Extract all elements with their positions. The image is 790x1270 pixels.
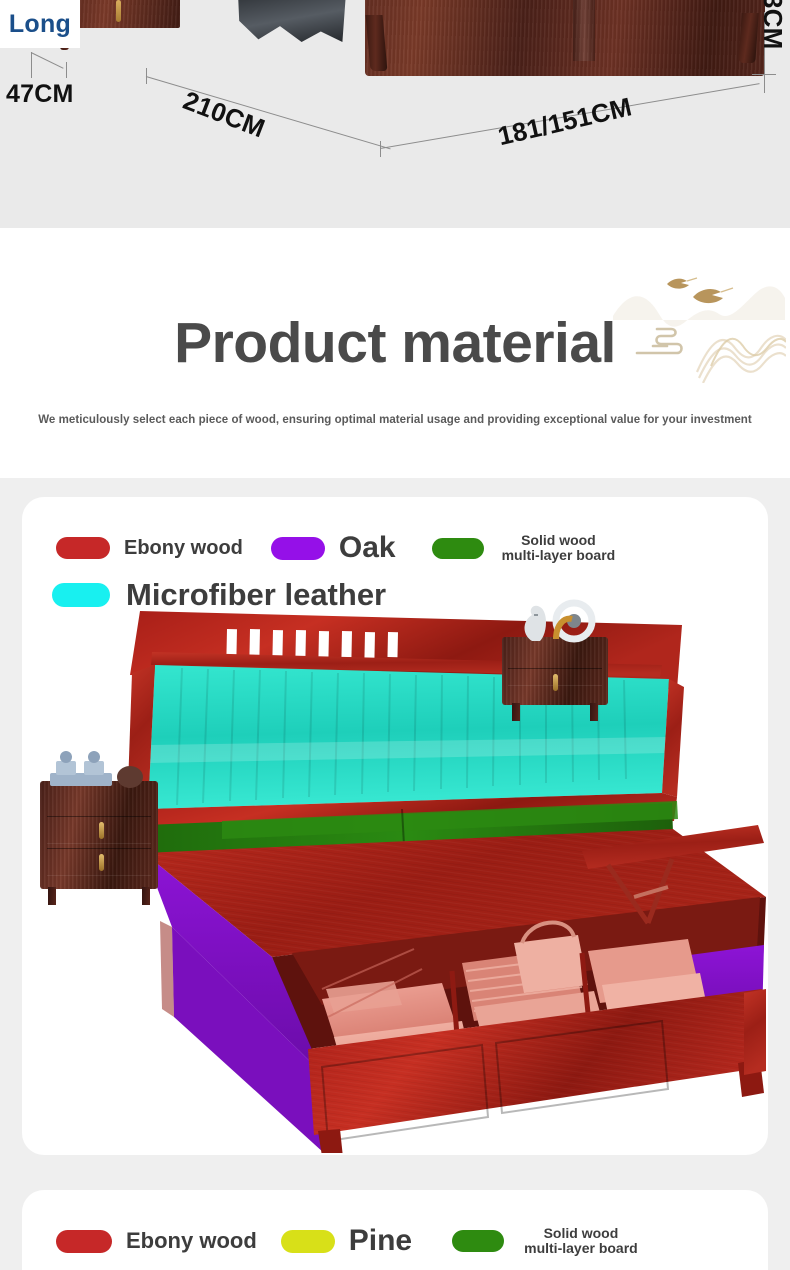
nightstand-knob-icon <box>116 0 121 22</box>
bed-footboard <box>365 0 765 76</box>
bed-illustration <box>22 597 768 1153</box>
nightstand-left-decor-icon <box>46 747 156 789</box>
legend-label-oak: Oak <box>339 531 396 565</box>
dimension-label-height: 3CM <box>757 0 788 50</box>
nightstand-right-pull <box>553 674 558 691</box>
legend-bottom-row-1: Ebony wood Pine Solid wood multi-layer b… <box>56 1224 638 1258</box>
long-badge: Long <box>0 0 80 48</box>
legend-item-ebony-wood-2[interactable]: Ebony wood <box>56 1228 257 1254</box>
nightstand-left-leg-a <box>48 887 56 905</box>
material-card-secondary: Ebony wood Pine Solid wood multi-layer b… <box>22 1190 768 1270</box>
legend-item-ebony-wood[interactable]: Ebony wood <box>56 537 243 560</box>
material-card-primary: Ebony wood Oak Solid wood multi-layer bo… <box>22 497 768 1155</box>
dim-tick-depth-end <box>66 62 67 78</box>
nightstand-left-leg-b <box>142 887 150 905</box>
swatch-multilayer-board <box>432 538 484 559</box>
nightstand-left <box>40 781 158 889</box>
draped-blanket <box>232 0 352 42</box>
legend-item-oak[interactable]: Oak <box>271 531 396 565</box>
bed-leg-right <box>738 13 758 63</box>
legend-label-multilayer-line1: Solid wood <box>521 532 596 548</box>
legend-row-1: Ebony wood Oak Solid wood multi-layer bo… <box>56 531 615 565</box>
legend-item-multilayer-board[interactable]: Solid wood multi-layer board <box>432 533 616 563</box>
legend-label-multilayer-2-line1: Solid wood <box>544 1225 619 1241</box>
legend-label-multilayer-line2: multi-layer board <box>502 547 616 563</box>
legend-label-multilayer-board: Solid wood multi-layer board <box>502 533 616 563</box>
swatch-multilayer-board-2 <box>452 1230 504 1252</box>
legend-label-ebony-wood-2: Ebony wood <box>126 1228 257 1254</box>
legend-label-multilayer-board-2: Solid wood multi-layer board <box>524 1226 638 1256</box>
nightstand-right-leg-a <box>512 703 520 721</box>
legend-item-pine[interactable]: Pine <box>281 1224 412 1258</box>
swatch-oak <box>271 537 325 560</box>
legend-label-ebony-wood: Ebony wood <box>124 537 243 560</box>
swatch-ebony-wood-2 <box>56 1230 112 1253</box>
title-section: Product material We meticulously select … <box>0 228 790 478</box>
page-subtitle: We meticulously select each piece of woo… <box>0 414 790 426</box>
product-material-page: 47CM 210CM 181/151CM 3CM Long <box>0 0 790 1270</box>
dim-tick-width-end <box>764 75 765 93</box>
dim-line-depth-horizontal <box>31 52 64 69</box>
dimension-label-depth: 47CM <box>6 80 74 109</box>
dimension-label-width: 181/151CM <box>495 91 635 152</box>
dim-tick-length-end <box>380 141 381 157</box>
nightstand-right-decor-icon <box>512 599 622 643</box>
swatch-pine <box>281 1230 335 1253</box>
legend-item-multilayer-board-2[interactable]: Solid wood multi-layer board <box>452 1226 638 1256</box>
long-badge-label: Long <box>9 10 71 39</box>
page-title: Product material <box>0 310 790 376</box>
legend-label-pine: Pine <box>349 1224 412 1258</box>
legend-label-multilayer-2-line2: multi-layer board <box>524 1240 638 1256</box>
swatch-ebony-wood <box>56 537 110 559</box>
dimension-diagram-band: 47CM 210CM 181/151CM 3CM Long <box>0 0 790 228</box>
nightstand-right-leg-b <box>590 703 598 721</box>
dim-tick-height-bottom <box>752 74 776 75</box>
nightstand-left-pull-top <box>99 822 104 839</box>
dimension-label-length: 210CM <box>179 85 269 144</box>
nightstand-right <box>502 637 608 705</box>
dimension-scene: 47CM 210CM 181/151CM 3CM <box>0 0 790 228</box>
nightstand-left-pull-bottom <box>99 854 104 871</box>
dim-line-depth-vertical <box>31 52 32 78</box>
